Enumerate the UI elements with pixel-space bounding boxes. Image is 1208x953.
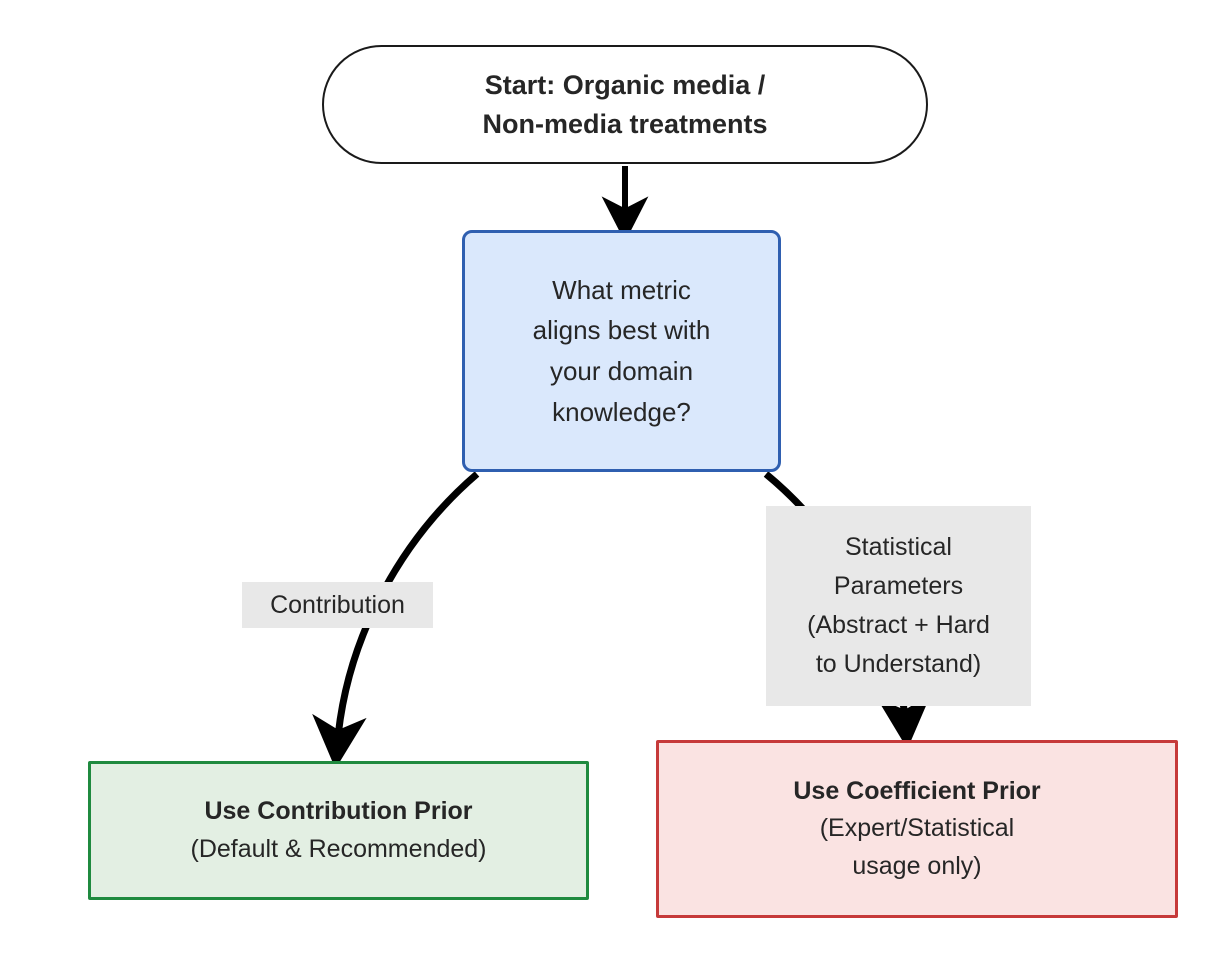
node-outcome-coefficient-subtitle-line2: usage only)	[852, 848, 981, 886]
flowchart-canvas: Start: Organic media / Non-media treatme…	[0, 0, 1208, 953]
edge-label-statistical-line3: (Abstract + Hard	[807, 606, 990, 645]
edge-label-contribution: Contribution	[242, 582, 433, 628]
edge-label-statistical-line1: Statistical	[845, 528, 952, 567]
node-decision-line3: your domain	[550, 351, 693, 392]
edge-label-statistical-line4: to Understand)	[816, 645, 981, 684]
node-outcome-contribution-title: Use Contribution Prior	[204, 793, 472, 831]
node-outcome-coefficient-prior[interactable]: Use Coefficient Prior (Expert/Statistica…	[656, 740, 1178, 918]
node-decision-metric[interactable]: What metric aligns best with your domain…	[462, 230, 781, 472]
node-outcome-coefficient-title: Use Coefficient Prior	[793, 773, 1040, 811]
node-decision-line4: knowledge?	[552, 392, 691, 433]
node-outcome-contribution-prior[interactable]: Use Contribution Prior (Default & Recomm…	[88, 761, 589, 900]
node-decision-line1: What metric	[552, 270, 691, 311]
node-outcome-coefficient-subtitle-line1: (Expert/Statistical	[820, 810, 1015, 848]
node-start-line2: Non-media treatments	[482, 105, 767, 143]
edge-label-statistical-parameters: Statistical Parameters (Abstract + Hard …	[766, 506, 1031, 706]
edge-label-statistical-line2: Parameters	[834, 567, 963, 606]
node-start-line1: Start: Organic media /	[485, 66, 766, 104]
edge-label-contribution-line1: Contribution	[270, 586, 405, 625]
node-decision-line2: aligns best with	[533, 310, 711, 351]
node-outcome-contribution-subtitle: (Default & Recommended)	[191, 831, 487, 869]
node-start[interactable]: Start: Organic media / Non-media treatme…	[322, 45, 928, 164]
